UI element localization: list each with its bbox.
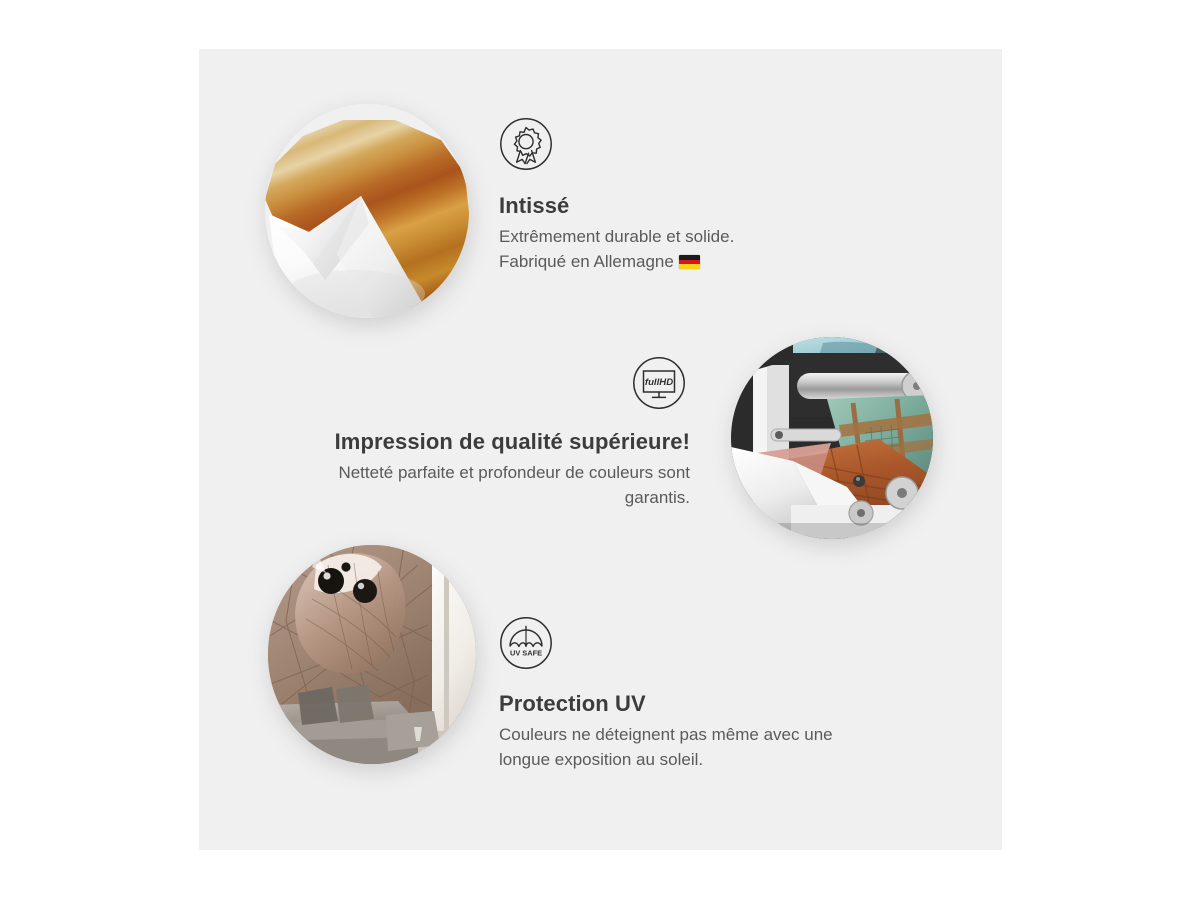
- feature-desc-line1: Couleurs ne déteignent pas même avec une: [499, 725, 833, 744]
- feature-description: Extrêmement durable et solide. Fabriqué …: [499, 224, 829, 274]
- svg-text:fullHD: fullHD: [645, 377, 673, 388]
- feature-description: Couleurs ne déteignent pas même avec une…: [499, 722, 879, 772]
- feature-desc-line2: garantis.: [625, 488, 690, 507]
- german-flag-icon: [679, 255, 700, 269]
- feature-title: Protection UV: [499, 690, 879, 718]
- printer-photo: [731, 337, 933, 539]
- feature-desc-line1: Netteté parfaite et profondeur de couleu…: [338, 463, 690, 482]
- page-root: Intissé Extrêmement durable et solide. F…: [0, 0, 1200, 900]
- svg-text:UV SAFE: UV SAFE: [510, 649, 542, 658]
- interior-mural-photo: [268, 545, 476, 764]
- feature-uv: UV SAFE Protection UV Couleurs ne déteig…: [499, 616, 879, 772]
- feature-desc-line2: longue exposition au soleil.: [499, 750, 703, 769]
- feature-description: Netteté parfaite et profondeur de couleu…: [290, 460, 690, 510]
- uv-safe-umbrella-icon: UV SAFE: [499, 616, 553, 670]
- feature-desc-line1: Extrêmement durable et solide.: [499, 227, 734, 246]
- feature-title: Impression de qualité supérieure!: [290, 428, 690, 456]
- award-rosette-icon: [499, 117, 553, 171]
- feature-desc-line2: Fabriqué en Allemagne: [499, 252, 674, 271]
- feature-impression: fullHD Impression de qualité supérieure!…: [290, 356, 690, 510]
- wallpaper-roll-photo: [265, 104, 469, 318]
- feature-intisse: Intissé Extrêmement durable et solide. F…: [499, 117, 829, 274]
- feature-title: Intissé: [499, 192, 829, 220]
- fullhd-monitor-icon: fullHD: [632, 356, 686, 410]
